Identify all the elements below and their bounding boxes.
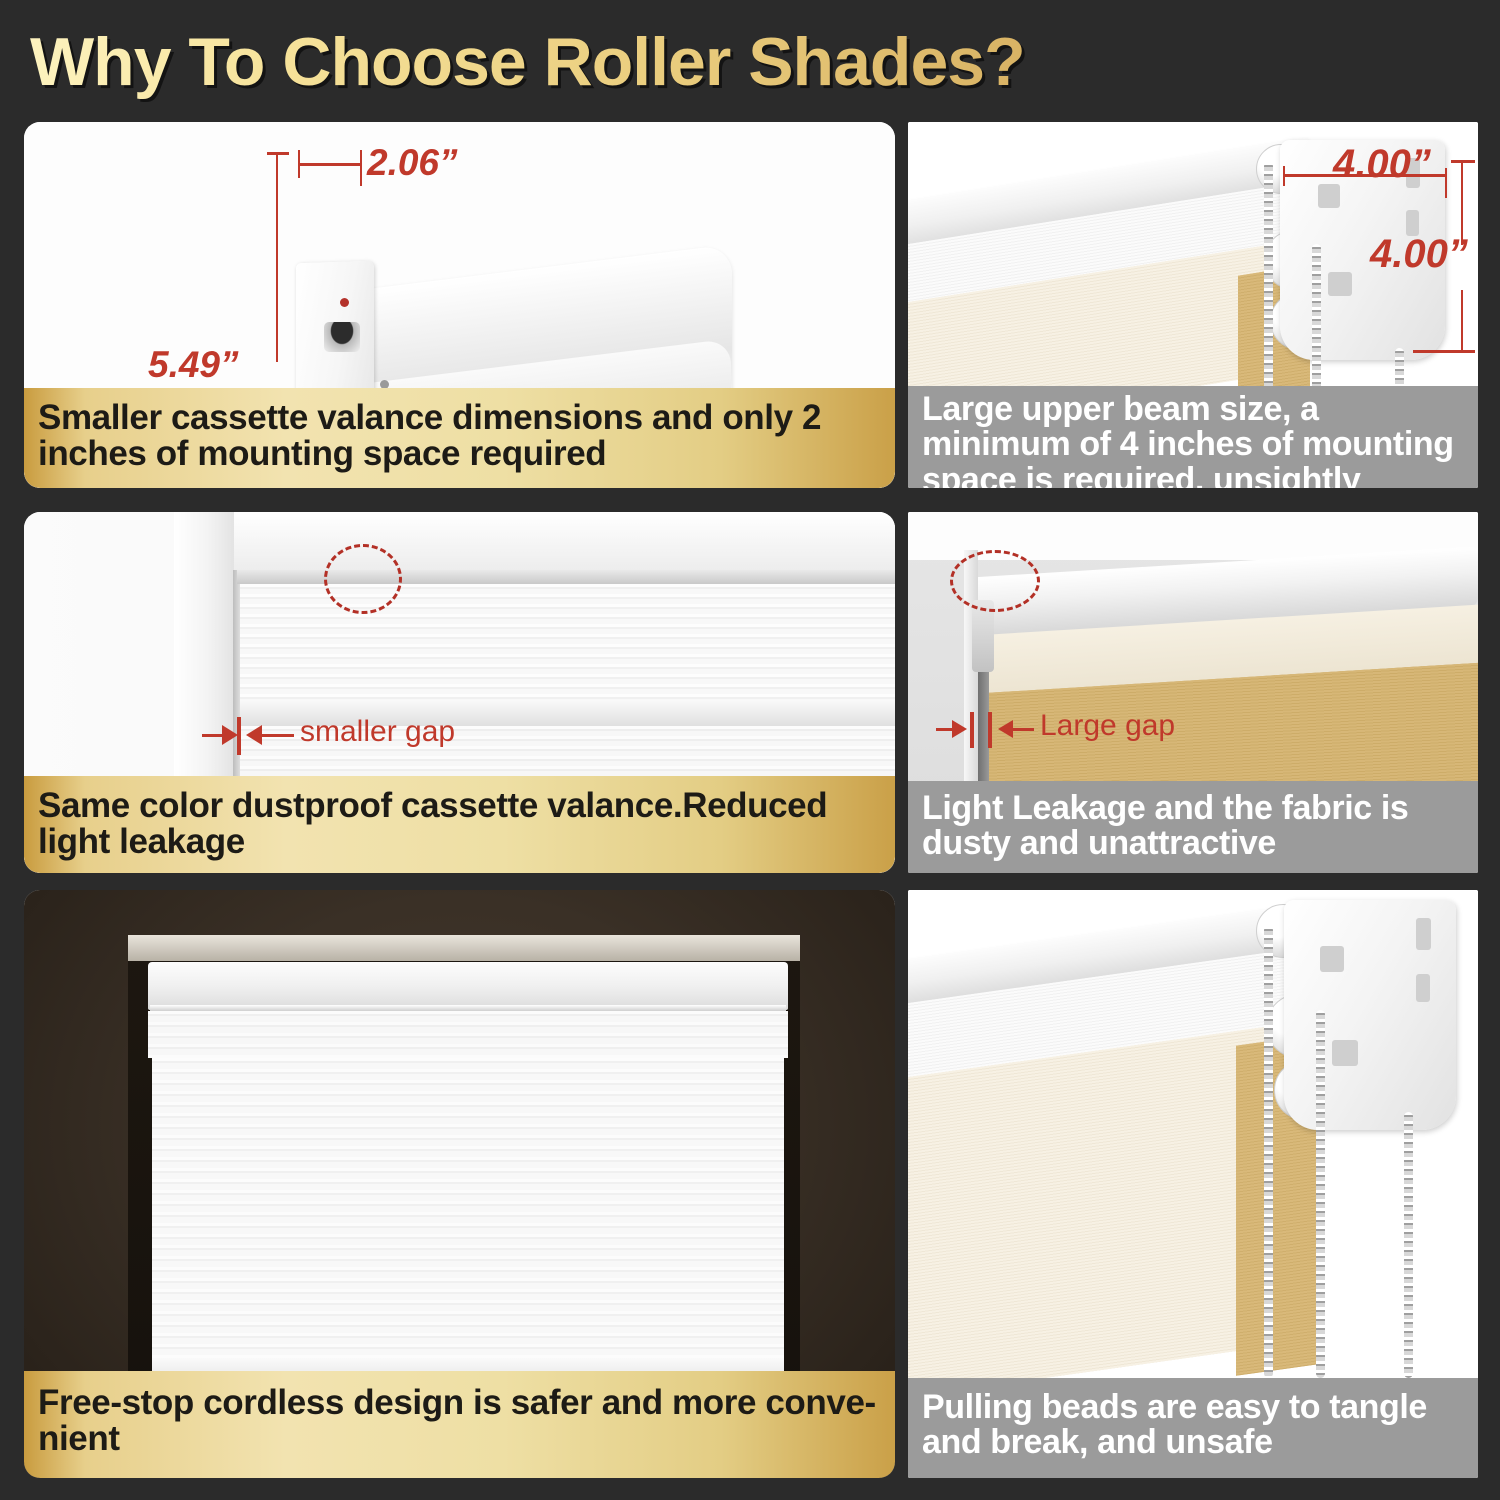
highlight-circle-icon: [950, 550, 1040, 612]
dimension-label-width: 4.00”: [1333, 142, 1431, 187]
arrow-left-icon: [998, 720, 1013, 738]
panel-cordless-design: Free-stop cordless design is safer and m…: [24, 890, 895, 1478]
arrow-right-icon: [222, 725, 238, 745]
panel-smaller-cassette: 2.06” 5.49” Smaller cassette valance dim…: [24, 122, 895, 488]
highlight-circle-icon: [324, 544, 402, 614]
panel-5-caption: Free-stop cordless design is safer and m…: [24, 1371, 895, 1478]
gap-label: Large gap: [1040, 709, 1175, 743]
panel-6-caption: Pulling beads are easy to tangle and bre…: [908, 1378, 1478, 1478]
page-title: Why To Choose Roller Shades?: [30, 20, 1430, 104]
panel-1-caption: Smaller cassette valance dimensions and …: [24, 388, 895, 488]
panel-large-upper-beam: 4.00” 4.00” Large upper beam size, a min…: [908, 122, 1478, 488]
panel-dustproof-valance: smaller gap Same color dustproof cassett…: [24, 512, 895, 873]
dimension-label-height: 4.00”: [1370, 232, 1468, 277]
dimension-label-width: 2.06”: [367, 142, 458, 184]
arrow-right-icon: [952, 720, 967, 738]
panel-2-caption: Large upper beam size, a minimum of 4 in…: [908, 386, 1478, 488]
bead-chain-icon: [1316, 1010, 1325, 1378]
panel-light-leakage: Large gap Light Leakage and the fabric i…: [908, 512, 1478, 873]
dimension-label-height: 5.49”: [148, 344, 239, 386]
bead-chain-icon: [1264, 926, 1273, 1378]
panel-3-caption: Same color dustproof cassette valance.Re…: [24, 776, 895, 873]
bead-chain-icon: [1404, 1112, 1413, 1378]
panel-4-caption: Light Leakage and the fabric is dusty an…: [908, 781, 1478, 873]
cassette-knob-icon: [324, 322, 360, 352]
panel-pulling-beads: Pulling beads are easy to tangle and bre…: [908, 890, 1478, 1478]
gap-label: smaller gap: [300, 715, 455, 749]
arrow-left-icon: [246, 725, 262, 745]
